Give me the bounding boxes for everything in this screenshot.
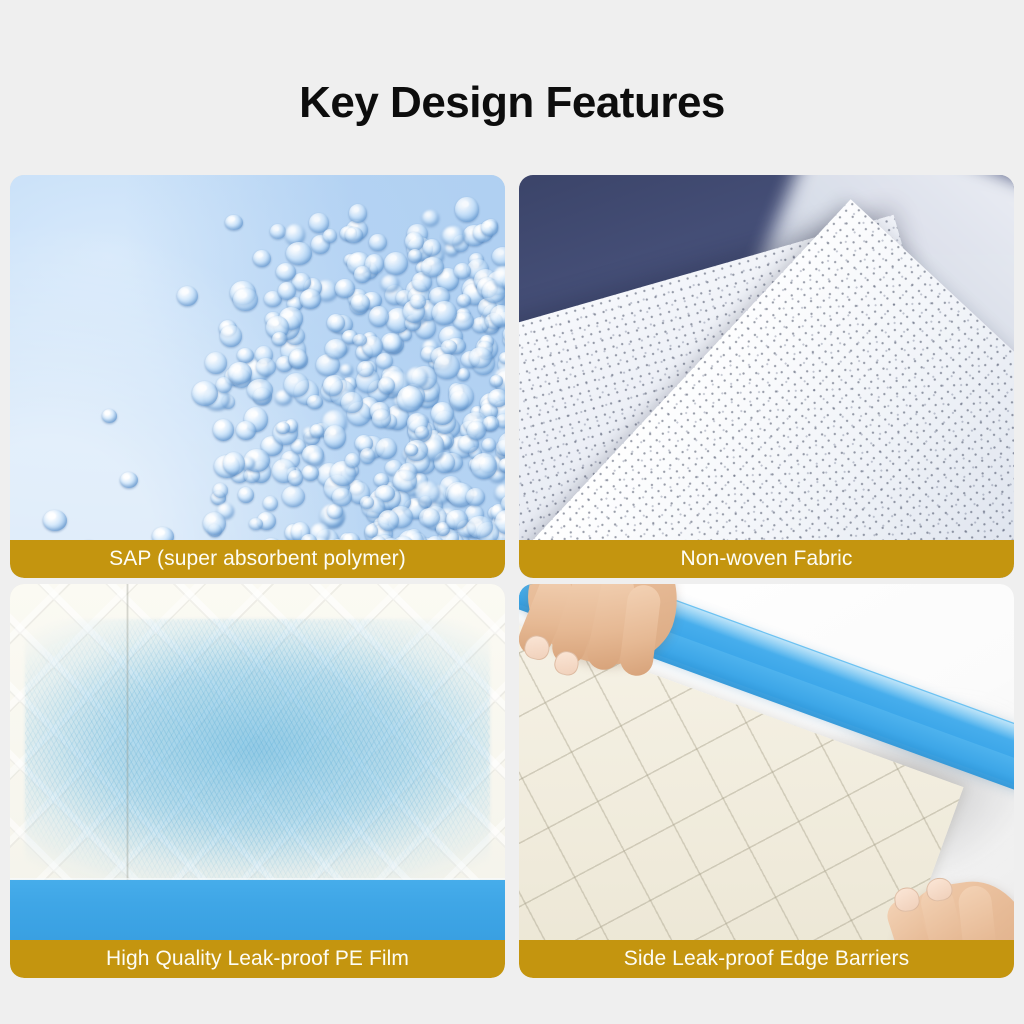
sap-bead	[384, 252, 408, 275]
sap-bead	[288, 470, 303, 486]
sap-bead	[471, 453, 497, 478]
sap-bead	[466, 488, 485, 506]
sap-bead	[422, 210, 439, 226]
sap-bead	[203, 512, 226, 535]
pe-film-core-texture	[25, 619, 490, 887]
sap-bead	[446, 510, 467, 529]
sap-bead	[482, 438, 496, 451]
caption-edge-barriers: Side Leak-proof Edge Barriers	[519, 940, 1014, 978]
caption-pe-film: High Quality Leak-proof PE Film	[10, 940, 505, 978]
page-title: Key Design Features	[0, 78, 1024, 128]
sap-bead	[467, 516, 492, 538]
sap-bead	[236, 421, 255, 440]
caption-sap: SAP (super absorbent polymer)	[10, 540, 505, 578]
sap-bead	[376, 438, 396, 459]
sap-bead	[488, 389, 505, 408]
sap-bead	[467, 421, 486, 440]
sap-bead	[205, 352, 227, 373]
sap-bead	[340, 364, 353, 376]
sap-bead	[393, 470, 417, 493]
sap-bead	[233, 288, 258, 312]
sap-bead	[220, 325, 243, 347]
sap-bead	[327, 504, 343, 518]
sap-bead	[360, 496, 374, 509]
sap-bead	[325, 339, 347, 358]
sap-bead	[237, 348, 254, 363]
sap-bead	[249, 518, 263, 530]
feature-card-edge-barriers[interactable]: Side Leak-proof Edge Barriers	[519, 584, 1014, 978]
sap-bead	[397, 386, 422, 412]
sap-bead	[353, 334, 367, 346]
caption-non-woven-fabric: Non-woven Fabric	[519, 540, 1014, 578]
sap-bead	[300, 289, 321, 309]
sap-bead	[449, 384, 474, 409]
sap-bead	[270, 224, 286, 239]
feature-card-non-woven-fabric[interactable]: Non-woven Fabric	[519, 175, 1014, 578]
sap-bead	[442, 226, 465, 246]
sap-bead	[102, 409, 117, 423]
edge-barriers-photo	[519, 584, 1014, 978]
sap-bead	[225, 215, 243, 231]
sap-bead	[345, 227, 363, 243]
sap-bead	[454, 263, 471, 280]
sap-bead	[43, 510, 67, 532]
sap-bead	[415, 426, 430, 439]
sap-bead	[256, 358, 276, 376]
sap-bead	[499, 458, 505, 472]
sap-bead	[327, 314, 345, 332]
sap-bead	[378, 377, 395, 394]
sap-bead	[120, 472, 138, 488]
sap-bead	[213, 483, 228, 497]
sap-bead	[213, 419, 235, 441]
sap-bead	[284, 373, 309, 396]
sap-bead	[345, 453, 360, 469]
sap-bead	[307, 395, 323, 409]
sap-bead	[490, 305, 505, 327]
sap-bead	[457, 294, 471, 307]
sap-bead	[410, 294, 426, 310]
sap-bead	[349, 204, 367, 223]
sap-bead	[351, 294, 370, 312]
sap-bead	[432, 301, 457, 325]
non-woven-photo	[519, 175, 1014, 578]
feature-card-sap[interactable]: SAP (super absorbent polymer)	[10, 175, 505, 578]
sap-bead	[272, 332, 287, 346]
sap-bead	[381, 275, 398, 291]
pe-film-photo	[10, 584, 505, 978]
sap-bead	[378, 510, 399, 531]
sap-bead	[423, 239, 442, 255]
sap-bead	[310, 424, 324, 438]
sap-bead	[406, 367, 428, 388]
sap-bead	[177, 286, 198, 306]
sap-bead	[357, 361, 374, 377]
sap-bead	[228, 362, 252, 385]
sap-bead	[381, 333, 402, 353]
sap-bead	[278, 282, 296, 300]
sap-bead	[253, 250, 271, 267]
sap-bead	[493, 266, 505, 287]
sap-bead	[223, 452, 245, 475]
sap-bead	[192, 381, 218, 406]
sap-bead	[481, 220, 497, 235]
sap-bead	[419, 508, 440, 527]
sap-bead	[324, 425, 346, 448]
sap-bead	[282, 486, 305, 507]
sap-bead	[492, 247, 505, 266]
sap-bead	[372, 409, 391, 429]
sap-bead	[289, 349, 308, 368]
sap-bead	[323, 376, 343, 396]
sap-bead	[434, 354, 459, 379]
sap-bead	[308, 451, 324, 466]
feature-grid: SAP (super absorbent polymer) Non-woven …	[10, 175, 1014, 979]
pe-film-blue-strip	[10, 880, 505, 940]
sap-bead	[323, 229, 337, 243]
feature-card-pe-film[interactable]: High Quality Leak-proof PE Film	[10, 584, 505, 978]
sap-bead	[455, 197, 478, 221]
sap-bead	[286, 242, 312, 265]
sap-bead	[354, 266, 371, 283]
sap-bead	[332, 488, 352, 507]
sap-bead	[263, 496, 278, 511]
infographic-page: Key Design Features SAP (super absorbent…	[0, 0, 1024, 1024]
sap-bead	[369, 234, 387, 252]
sap-bead	[341, 392, 362, 413]
sap-bead	[335, 279, 354, 298]
sap-photo	[10, 175, 505, 578]
sap-bead	[360, 448, 375, 464]
sap-bead	[238, 487, 254, 503]
sap-bead	[247, 379, 273, 401]
sap-bead-cluster	[10, 175, 505, 578]
